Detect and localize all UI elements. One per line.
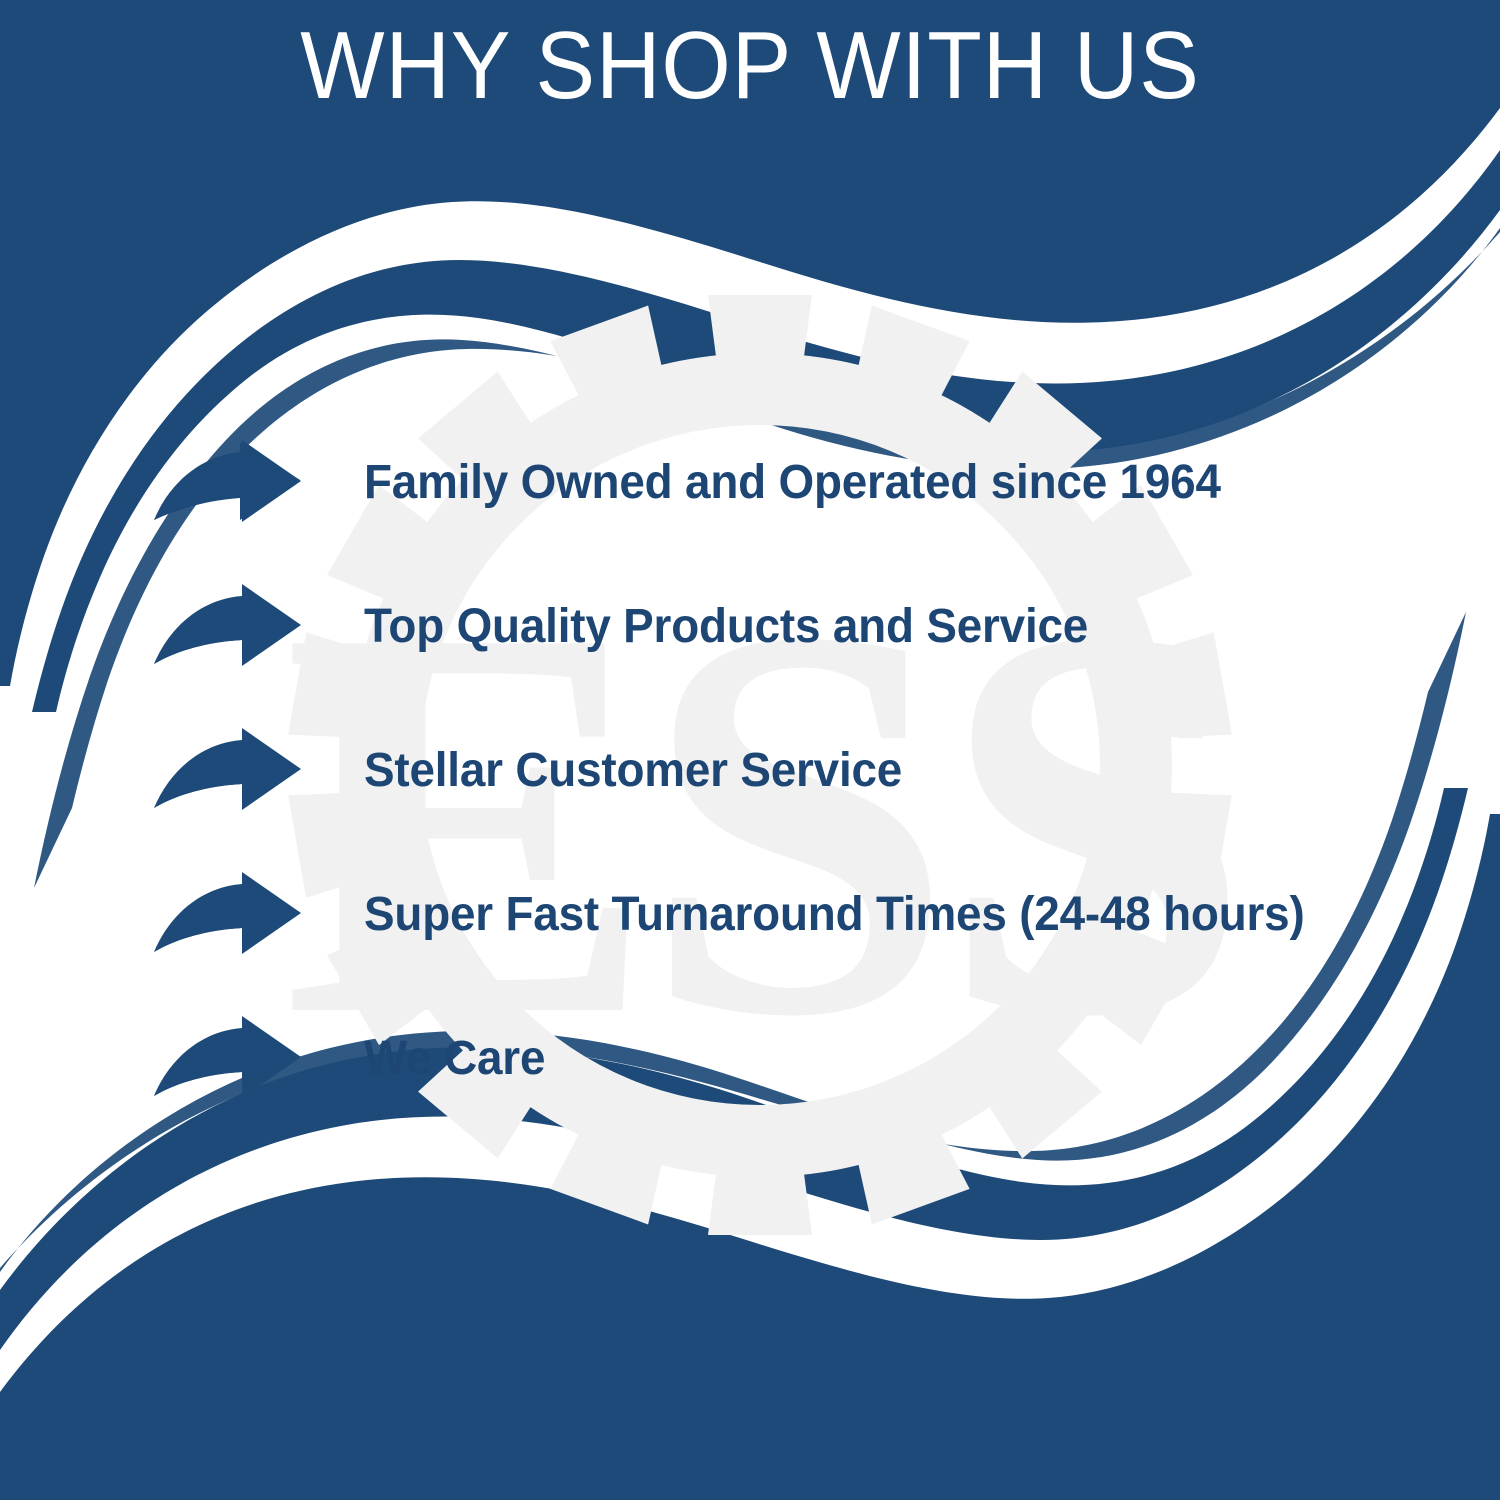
curved-arrow-right-icon	[152, 440, 302, 526]
list-item: Super Fast Turnaround Times (24-48 hours…	[152, 864, 1442, 966]
list-item: Stellar Customer Service	[152, 720, 1442, 822]
list-item: Top Quality Products and Service	[152, 576, 1442, 678]
benefits-list: Family Owned and Operated since 1964 Top…	[152, 432, 1442, 1110]
list-item-label: Stellar Customer Service	[364, 744, 1393, 798]
list-item-label: Super Fast Turnaround Times (24-48 hours…	[364, 888, 1393, 942]
curved-arrow-right-icon	[152, 728, 302, 814]
list-item: Family Owned and Operated since 1964	[152, 432, 1442, 534]
list-item-label: Family Owned and Operated since 1964	[364, 456, 1393, 510]
why-shop-with-us-poster: ESS WHY SHOP WITH US Family Owned and Op…	[0, 0, 1500, 1500]
list-item: We Care	[152, 1008, 1442, 1110]
curved-arrow-right-icon	[152, 1016, 302, 1102]
list-item-label: Top Quality Products and Service	[364, 600, 1393, 654]
curved-arrow-right-icon	[152, 872, 302, 958]
curved-arrow-right-icon	[152, 584, 302, 670]
page-title: WHY SHOP WITH US	[53, 14, 1448, 118]
list-item-label: We Care	[364, 1032, 1393, 1086]
